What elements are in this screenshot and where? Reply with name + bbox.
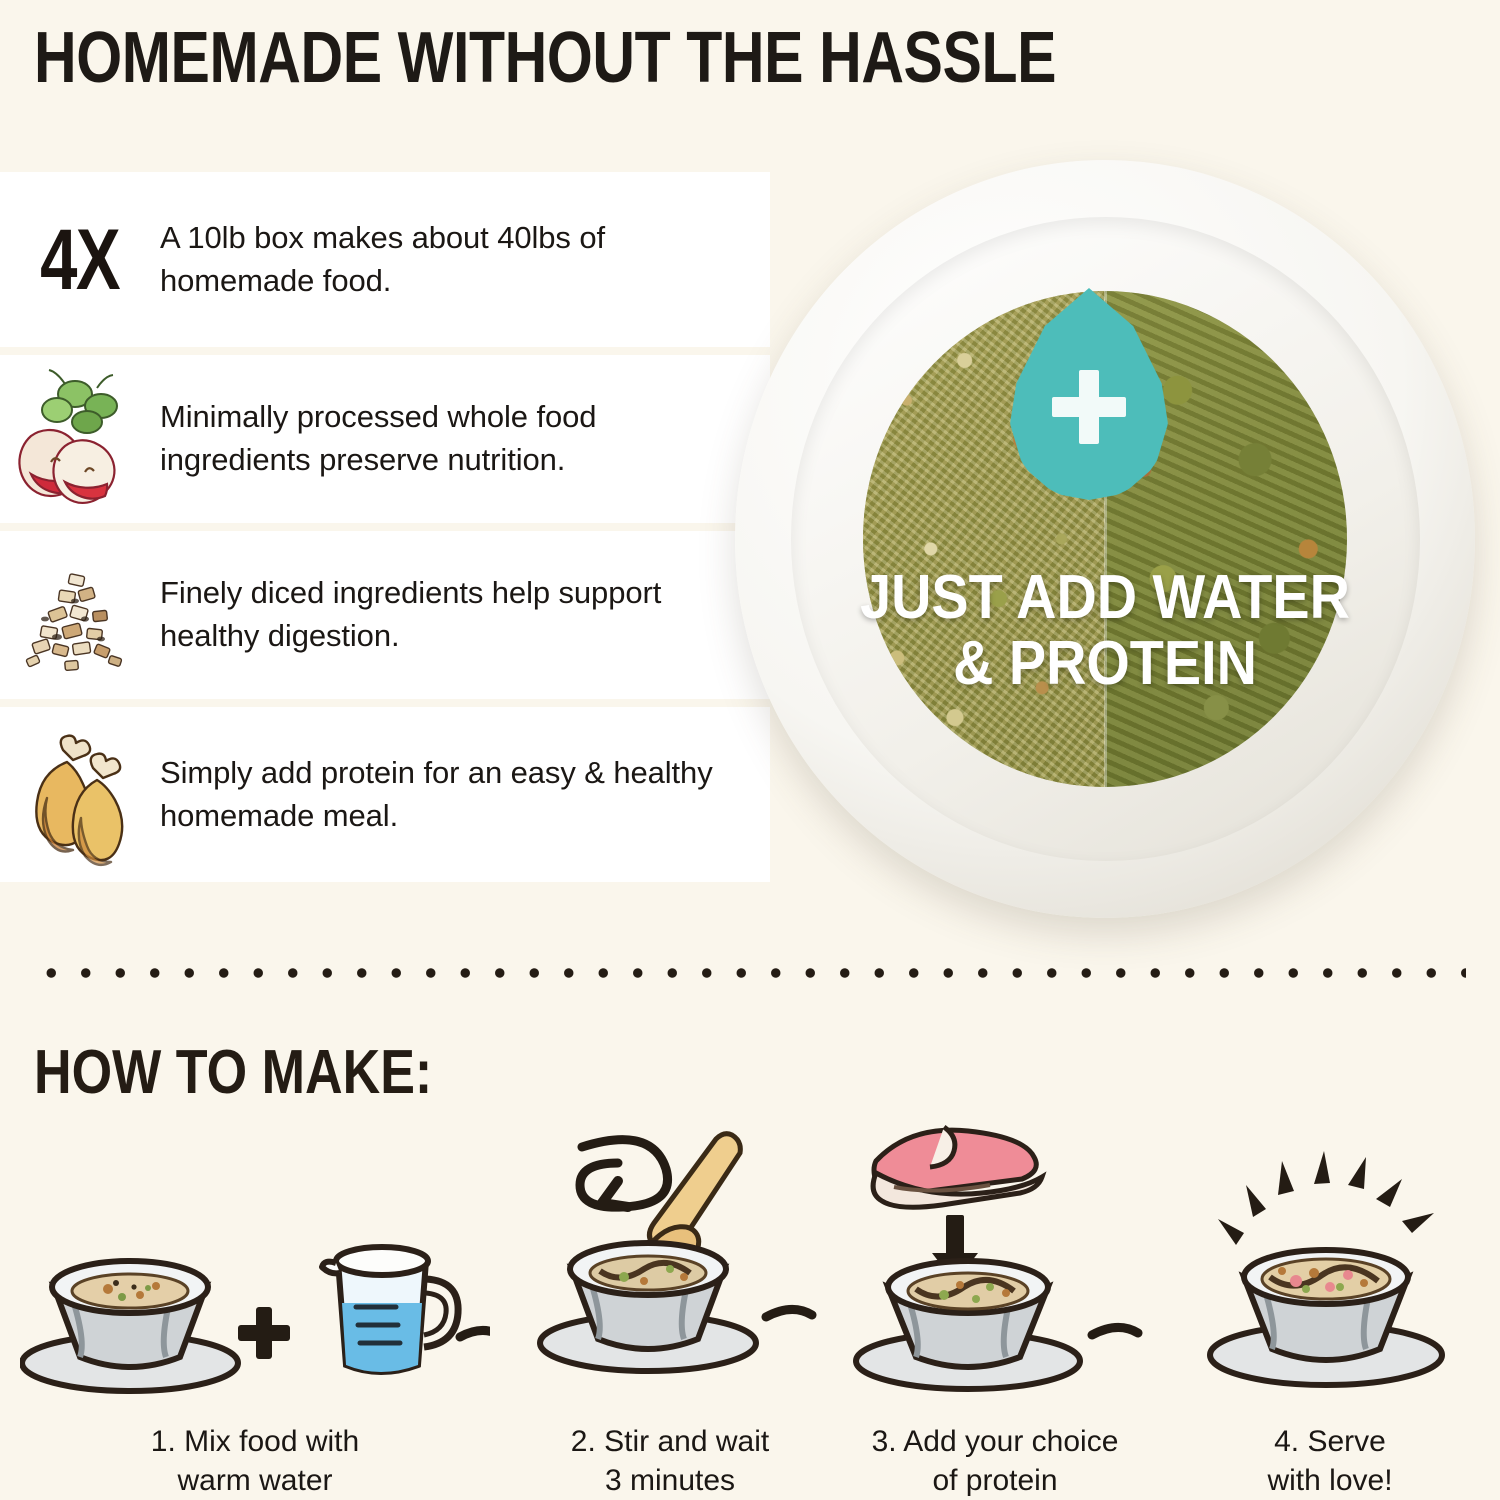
step-1-caption-line-1: 1. Mix food with [151,1423,359,1461]
bowl-caption-line-2: & PROTEIN [772,631,1438,697]
feature-text-2: Minimally processed whole food ingredien… [160,396,770,482]
dotted-divider [34,966,1466,980]
step-4-caption-line-1: 4. Serve [1267,1423,1392,1461]
step-1-art [20,1111,490,1411]
arrow-to-step-4 [1092,1328,1138,1336]
step-1-caption-line-2: warm water [151,1462,359,1500]
bowl-caption: JUST ADD WATER & PROTEIN [735,565,1475,696]
dog-bowl-illustration [22,1261,238,1391]
4x-multiplier-label: 4X [41,217,120,303]
feature-row-1: 4X A 10lb box makes about 40lbs of homem… [0,172,770,347]
diced-ingredients-icon [0,531,160,699]
feature-list: 4X A 10lb box makes about 40lbs of homem… [0,172,770,890]
stir-swirl-arrow [580,1140,668,1207]
steak-illustration [873,1127,1042,1207]
step-3-caption-line-2: of protein [872,1462,1119,1500]
step-2-caption-line-2: 3 minutes [571,1462,769,1500]
step-3-caption: 3. Add your choice of protein [872,1411,1119,1500]
step-3: 3. Add your choice of protein [860,1080,1130,1500]
step-4-caption-line-2: with love! [1267,1462,1392,1500]
step-4-caption: 4. Serve with love! [1267,1411,1392,1500]
feature-row-3: Finely diced ingredients help support he… [0,531,770,699]
feature-text-1: A 10lb box makes about 40lbs of homemade… [160,217,770,303]
step-1: 1. Mix food with warm water [20,1080,490,1500]
product-bowl-photo [735,160,1475,918]
measuring-cup-illustration [322,1247,458,1372]
bowl-caption-line-1: JUST ADD WATER [772,565,1438,631]
plus-sign-illustration [238,1307,290,1359]
step-2-caption-line-1: 2. Stir and wait [571,1423,769,1461]
step-1-caption: 1. Mix food with warm water [151,1411,359,1500]
step-2-art [540,1111,800,1411]
page-title: HOMEMADE WITHOUT THE HASSLE [34,22,1056,94]
arrow-to-step-3 [766,1310,812,1318]
apple-and-greens-icon [0,355,160,523]
step-4: 4. Serve with love! [1190,1080,1470,1500]
dog-bowl-illustration [540,1243,756,1371]
plus-glyph [1052,370,1126,444]
feature-text-3: Finely diced ingredients help support he… [160,572,770,658]
feature-row-4: Simply add protein for an easy & healthy… [0,707,770,882]
arrow-to-step-2 [460,1331,490,1338]
step-3-art [860,1111,1130,1411]
step-2-caption: 2. Stir and wait 3 minutes [571,1411,769,1500]
feature-text-4: Simply add protein for an easy & healthy… [160,752,770,838]
howto-steps: 1. Mix food with warm water [0,1080,1500,1500]
step-2: 2. Stir and wait 3 minutes [540,1080,800,1500]
dog-bowl-illustration [856,1261,1080,1389]
bowl-outer-rim [735,160,1475,918]
feature-row-2: Minimally processed whole food ingredien… [0,355,770,523]
chicken-drumsticks-icon [0,707,160,882]
4x-multiplier-icon: 4X [0,172,160,347]
dog-bowl-illustration [1210,1250,1442,1385]
step-4-art [1190,1111,1470,1411]
step-3-caption-line-1: 3. Add your choice [872,1423,1119,1461]
shine-marks-icon [1218,1151,1434,1245]
